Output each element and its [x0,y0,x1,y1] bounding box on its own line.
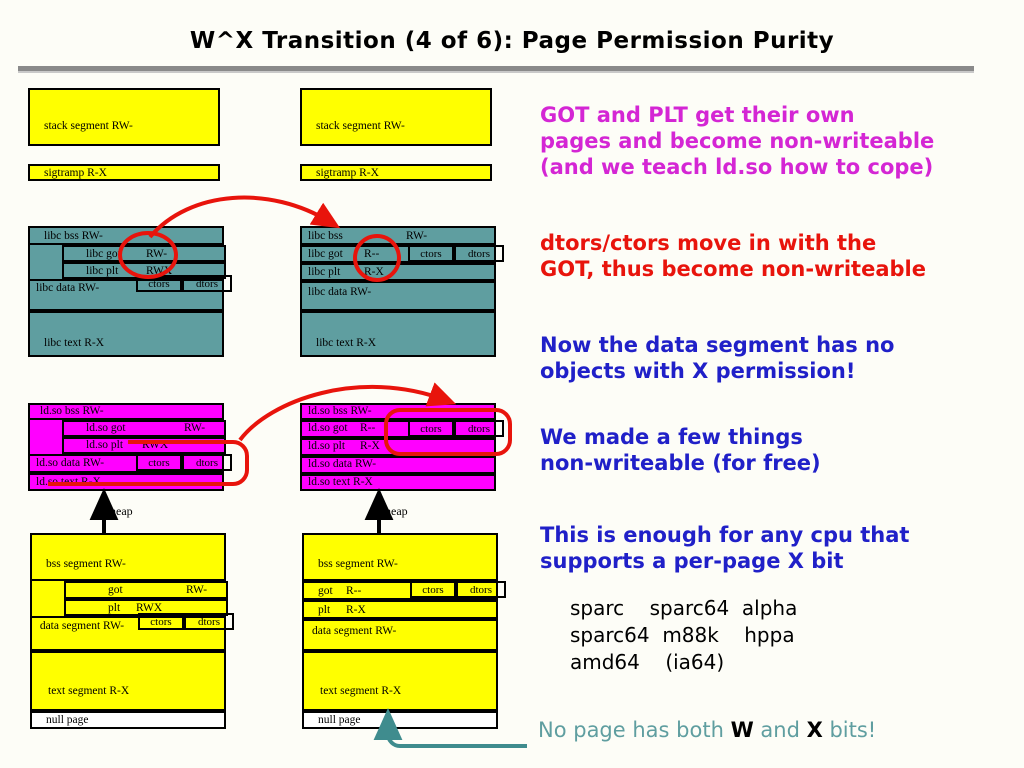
footer-note-x: X [807,718,823,742]
right-prog-text-label: text segment R-X [320,685,401,697]
right-prog-null-label: null page [318,714,360,726]
right-prog-nullpage: null page [302,711,498,729]
right-ldso-data: ld.so data RW- [300,456,496,474]
left-prog-bss: bss segment RW- [30,533,226,581]
title-divider [18,66,974,73]
footer-note-mid: and [754,718,807,742]
right-sigtramp-label: sigtramp R-X [316,167,379,179]
note-got-plt: GOT and PLT get their own pages and beco… [540,102,1010,180]
right-ldso-data-label: ld.so data RW- [308,458,376,470]
right-libc-block: libc bss RW- libc got R-- libc plt R-X l… [300,226,492,353]
right-prog-dtors: dtors [456,581,506,598]
page-title: W^X Transition (4 of 6): Page Permission… [0,28,1024,54]
left-prog-bss-label: bss segment RW- [46,558,126,570]
footer-note: No page has both W and X bits! [538,718,876,742]
left-libc-bss: libc bss RW- [28,226,224,245]
right-libc-bss-perm: RW- [406,230,427,242]
right-ldso-ctors: ctors [408,420,454,437]
left-ldso-text-label: ld.so text R-X [36,476,101,488]
right-libc-plt-perm: R-X [364,266,384,278]
right-libc-got-label: libc got [308,248,343,260]
right-libc-data: libc data RW- [300,281,496,311]
left-ldso-bss-label: ld.so bss RW- [40,405,104,417]
right-ldso-plt: ld.so plt R-X [300,438,496,456]
footer-note-w: W [731,718,754,742]
right-prog-data: data segment RW- [302,619,498,651]
right-ldso-dtors: dtors [454,420,504,437]
right-libc-ctors: ctors [408,245,454,262]
right-sigtramp: sigtramp R-X [300,164,492,181]
left-heap-label: heap [110,504,133,519]
right-prog-plt-perm: R-X [346,604,366,616]
right-libc-got-perm: R-- [364,248,379,260]
left-prog-data-label: data segment RW- [38,620,126,633]
right-prog-text: text segment R-X [302,651,498,711]
left-libc-dtors: dtors [182,275,232,292]
left-program-block: bss segment RW- got RW- plt RWX data seg… [30,533,222,725]
left-sigtramp-label: sigtramp R-X [44,167,107,179]
left-libc-data-label: libc data RW- [36,282,106,295]
right-prog-got-label: got [318,585,333,597]
right-stack-label: stack segment RW- [316,120,405,132]
right-ldso-bss: ld.so bss RW- [300,403,496,420]
left-prog-dtors: dtors [184,613,234,630]
left-ldso-got: ld.so got RW- [62,420,226,437]
left-libc-block: libc bss RW- libc got RW- libc plt RWX l… [28,226,220,353]
left-stack-segment: stack segment RW- [28,88,220,146]
right-libc-bss-label: libc bss [308,230,343,242]
right-prog-data-label: data segment RW- [312,625,396,637]
right-libc-data-label: libc data RW- [308,286,371,298]
right-prog-ctors: ctors [410,581,456,598]
left-prog-plt-label: plt [108,602,120,614]
left-ldso-got-label: ld.so got [86,422,126,434]
slide-root: W^X Transition (4 of 6): Page Permission… [0,0,1024,768]
footer-note-post: bits! [823,718,876,742]
left-prog-text: text segment R-X [30,651,226,711]
left-prog-got-label: got [108,584,123,596]
left-ldso-got-perm: RW- [184,422,205,434]
right-ldso-text-label: ld.so text R-X [308,476,373,488]
left-ldso-dtors: dtors [182,454,232,471]
note-data-segment: Now the data segment has no objects with… [540,332,1010,384]
left-libc-got-label: libc got [86,248,121,260]
left-ldso-block: ld.so bss RW- ld.so got RW- ld.so plt RW… [28,403,220,487]
left-libc-got: libc got RW- [62,245,226,262]
left-prog-null-label: null page [46,714,88,726]
left-stack-label: stack segment RW- [44,120,133,132]
left-prog-got: got RW- [64,581,228,599]
right-heap-label: heap [385,504,408,519]
right-libc-dtors: dtors [454,245,504,262]
left-libc-ctors: ctors [136,275,182,292]
right-prog-plt: plt R-X [302,600,498,619]
note-cpu-support: This is enough for any cpu that supports… [540,522,1010,574]
right-ldso-got-perm: R-- [360,422,375,434]
left-ldso-text: ld.so text R-X [28,473,224,491]
right-libc-plt: libc plt R-X [300,263,496,281]
right-program-block: bss segment RW- got R-- plt R-X data seg… [302,533,494,725]
right-stack-segment: stack segment RW- [300,88,492,146]
left-libc-bss-label: libc bss RW- [44,230,103,242]
left-prog-text-label: text segment R-X [48,685,129,697]
left-prog-nullpage: null page [30,711,226,729]
right-prog-bss: bss segment RW- [302,533,498,581]
left-ldso-data-label: ld.so data RW- [36,457,104,469]
left-libc-got-perm: RW- [146,248,167,260]
footer-note-pre: No page has both [538,718,731,742]
right-ldso-bss-label: ld.so bss RW- [308,405,372,417]
right-prog-bss-label: bss segment RW- [318,558,398,570]
right-ldso-text: ld.so text R-X [300,474,496,491]
right-libc-text: libc text R-X [300,311,496,357]
left-ldso-ctors: ctors [136,454,182,471]
left-ldso-plt: ld.so plt RWX [62,437,226,454]
left-libc-text: libc text R-X [28,311,224,357]
left-prog-ctors: ctors [138,613,184,630]
note-non-writeable: We made a few things non-writeable (for … [540,424,1010,476]
left-ldso-plt-perm: RWX [142,439,168,451]
left-ldso-plt-label: ld.so plt [86,439,123,451]
left-libc-plt-label: libc plt [86,265,118,277]
left-prog-got-perm: RW- [186,584,207,596]
left-sigtramp: sigtramp R-X [28,164,220,181]
right-ldso-plt-perm: R-X [360,440,380,452]
cpu-list: sparc sparc64 alpha sparc64 m88k hppa am… [570,595,797,676]
right-libc-text-label: libc text R-X [316,337,376,349]
right-ldso-got-label: ld.so got [308,422,348,434]
right-libc-plt-label: libc plt [308,266,340,278]
left-libc-text-label: libc text R-X [44,337,104,349]
right-ldso-plt-label: ld.so plt [308,440,345,452]
right-libc-bss: libc bss RW- [300,226,496,245]
right-ldso-block: ld.so bss RW- ld.so got R-- ld.so plt R-… [300,403,492,487]
note-dtors-ctors: dtors/ctors move in with the GOT, thus b… [540,230,1010,282]
right-prog-plt-label: plt [318,604,330,616]
left-ldso-bss: ld.so bss RW- [28,403,224,420]
right-prog-got-perm: R-- [346,585,361,597]
